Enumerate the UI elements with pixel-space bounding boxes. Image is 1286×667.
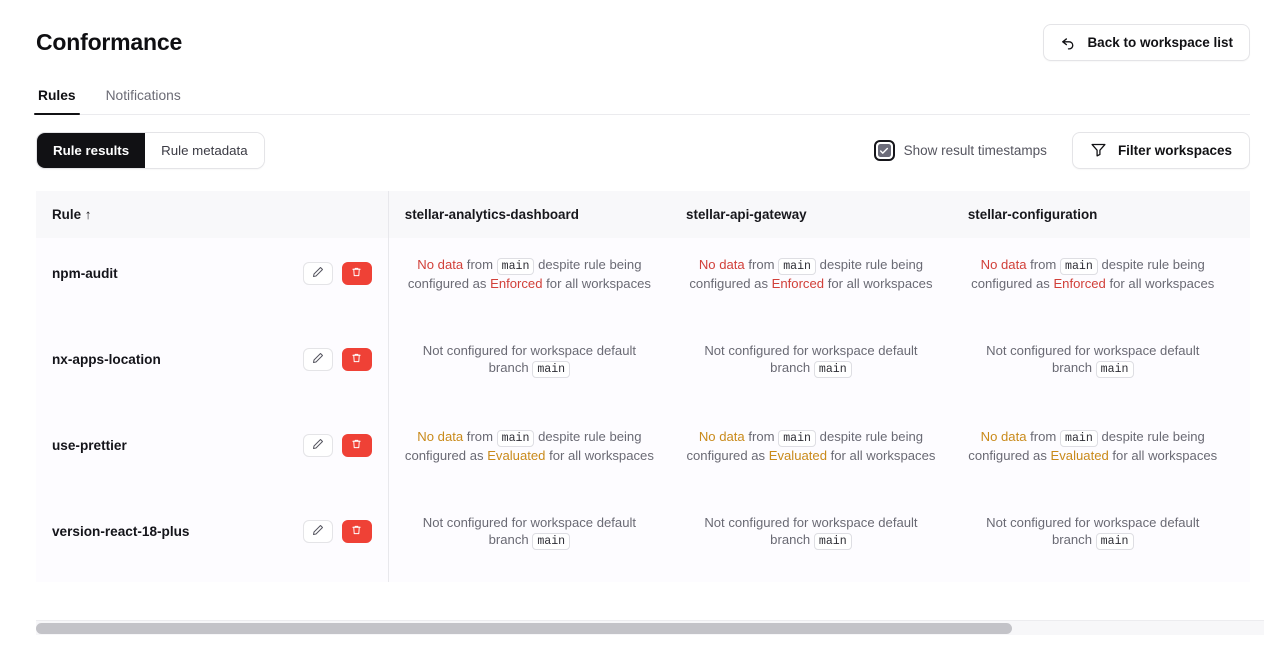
result-cell: No data from main despite rule being con… — [388, 410, 670, 496]
rule-status-label: Evaluated — [769, 448, 827, 463]
cell-message: No data from main despite rule being con… — [968, 256, 1218, 292]
no-data-label: No data — [981, 257, 1027, 272]
checkbox-focus-ring — [874, 140, 895, 161]
toolbar: Rule results Rule metadata Show result t… — [0, 115, 1286, 169]
cell-message: No data from main despite rule being con… — [405, 428, 654, 464]
sort-ascending-icon: ↑ — [85, 207, 92, 222]
rule-name: npm-audit — [52, 265, 118, 282]
checkbox-checked-icon — [878, 144, 891, 157]
delete-rule-button[interactable] — [342, 348, 372, 371]
page-header: Conformance Back to workspace list — [0, 0, 1286, 62]
cell-message: No data from main despite rule being con… — [686, 428, 936, 464]
table-row: nx-apps-locationNot configured for works… — [36, 324, 1250, 410]
rule-status-label: Enforced — [772, 276, 824, 291]
branch-badge: main — [497, 258, 535, 275]
edit-rule-button[interactable] — [303, 348, 333, 371]
trash-icon — [351, 524, 362, 539]
trash-icon — [351, 438, 362, 453]
result-cell: No data from main despite rule being con… — [1234, 238, 1250, 324]
trash-icon — [351, 266, 362, 281]
table-row: npm-auditNo data from main despite rule … — [36, 238, 1250, 324]
result-cell: No data from main despite rule being con… — [670, 238, 952, 324]
result-cell: No data from main despite rule being con… — [388, 238, 670, 324]
undo-arrow-icon — [1060, 34, 1077, 51]
tab-notifications[interactable]: Notifications — [104, 88, 183, 114]
column-header-workspace-3[interactable]: stellar-configuration — [952, 191, 1234, 238]
horizontal-scrollbar-track[interactable] — [36, 621, 1264, 635]
filter-workspaces-label: Filter workspaces — [1118, 143, 1232, 158]
conformance-page: Conformance Back to workspace list Rules… — [0, 0, 1286, 667]
branch-badge: main — [1060, 258, 1098, 275]
no-data-label: No data — [981, 429, 1027, 444]
edit-rule-button[interactable] — [303, 434, 333, 457]
rule-status-label: Evaluated — [487, 448, 545, 463]
segment-rule-results[interactable]: Rule results — [37, 133, 145, 168]
rule-cell-inner: nx-apps-location — [52, 348, 372, 371]
conformance-table-scroll-region[interactable]: Rule ↑ stellar-analytics-dashboard stell… — [36, 191, 1250, 583]
column-header-workspace-2[interactable]: stellar-api-gateway — [670, 191, 952, 238]
rule-status-label: Evaluated — [1051, 448, 1109, 463]
rule-actions — [303, 262, 372, 285]
cell-message: Not configured for workspace default bra… — [686, 342, 936, 378]
column-header-rule[interactable]: Rule ↑ — [36, 191, 388, 238]
view-segmented-control: Rule results Rule metadata — [36, 132, 265, 169]
rule-status-label: Enforced — [1053, 276, 1105, 291]
column-header-workspace-4[interactable]: stellar-design-system — [1234, 191, 1250, 238]
result-cell: No data from main despite rule being con… — [952, 238, 1234, 324]
tabs: Rules Notifications — [36, 88, 1250, 115]
rule-cell: npm-audit — [36, 238, 388, 324]
table-body: npm-auditNo data from main despite rule … — [36, 238, 1250, 582]
branch-badge: main — [497, 430, 535, 447]
pencil-icon — [312, 524, 324, 539]
segment-rule-metadata[interactable]: Rule metadata — [145, 133, 263, 168]
edit-rule-button[interactable] — [303, 262, 333, 285]
back-to-workspace-list-button[interactable]: Back to workspace list — [1043, 24, 1250, 61]
cell-message: No data from main despite rule being con… — [686, 256, 936, 292]
result-cell: Not configured for workspace default bra… — [1234, 324, 1250, 410]
no-data-label: No data — [417, 257, 463, 272]
delete-rule-button[interactable] — [342, 262, 372, 285]
result-cell: No data from main despite rule being con… — [1234, 410, 1250, 496]
pencil-icon — [312, 266, 324, 281]
cell-message: Not configured for workspace default bra… — [686, 514, 936, 550]
no-data-label: No data — [417, 429, 463, 444]
no-data-label: No data — [699, 429, 745, 444]
table-head: Rule ↑ stellar-analytics-dashboard stell… — [36, 191, 1250, 238]
branch-badge: main — [814, 533, 852, 550]
rule-cell-inner: version-react-18-plus — [52, 520, 372, 543]
delete-rule-button[interactable] — [342, 520, 372, 543]
result-cell: Not configured for workspace default bra… — [1234, 496, 1250, 582]
cell-message: Not configured for workspace default bra… — [405, 514, 654, 550]
branch-badge: main — [778, 258, 816, 275]
rule-actions — [303, 520, 372, 543]
cell-message: No data from main despite rule being con… — [405, 256, 654, 292]
result-cell: Not configured for workspace default bra… — [388, 324, 670, 410]
result-cell: Not configured for workspace default bra… — [952, 324, 1234, 410]
toolbar-right: Show result timestamps Filter workspaces — [874, 132, 1250, 169]
edit-rule-button[interactable] — [303, 520, 333, 543]
rule-name: nx-apps-location — [52, 351, 161, 368]
table-row: version-react-18-plusNot configured for … — [36, 496, 1250, 582]
trash-icon — [351, 352, 362, 367]
result-cell: No data from main despite rule being con… — [952, 410, 1234, 496]
branch-badge: main — [814, 361, 852, 378]
rule-actions — [303, 434, 372, 457]
rule-cell: version-react-18-plus — [36, 496, 388, 582]
filter-workspaces-button[interactable]: Filter workspaces — [1072, 132, 1250, 169]
result-cell: Not configured for workspace default bra… — [670, 496, 952, 582]
rule-name: use-prettier — [52, 437, 127, 454]
branch-badge: main — [532, 361, 570, 378]
no-data-label: No data — [699, 257, 745, 272]
delete-rule-button[interactable] — [342, 434, 372, 457]
cell-message: Not configured for workspace default bra… — [968, 514, 1218, 550]
result-cell: Not configured for workspace default bra… — [670, 324, 952, 410]
funnel-icon — [1090, 141, 1107, 161]
branch-badge: main — [778, 430, 816, 447]
rule-cell-inner: npm-audit — [52, 262, 372, 285]
tab-rules[interactable]: Rules — [36, 88, 78, 114]
rule-status-label: Enforced — [490, 276, 542, 291]
result-cell: No data from main despite rule being con… — [670, 410, 952, 496]
rule-cell-inner: use-prettier — [52, 434, 372, 457]
branch-badge: main — [1096, 533, 1134, 550]
pencil-icon — [312, 352, 324, 367]
rule-cell: use-prettier — [36, 410, 388, 496]
show-result-timestamps-label: Show result timestamps — [904, 143, 1047, 158]
table-header-row: Rule ↑ stellar-analytics-dashboard stell… — [36, 191, 1250, 238]
cell-message: No data from main despite rule being con… — [968, 428, 1218, 464]
branch-badge: main — [1060, 430, 1098, 447]
page-title: Conformance — [36, 29, 182, 56]
pencil-icon — [312, 438, 324, 453]
cell-message: Not configured for workspace default bra… — [968, 342, 1218, 378]
rule-actions — [303, 348, 372, 371]
column-header-rule-label: Rule — [52, 207, 81, 222]
back-button-label: Back to workspace list — [1087, 35, 1233, 50]
rule-cell: nx-apps-location — [36, 324, 388, 410]
conformance-table: Rule ↑ stellar-analytics-dashboard stell… — [36, 191, 1250, 582]
horizontal-scrollbar-thumb[interactable] — [36, 623, 1012, 634]
result-cell: Not configured for workspace default bra… — [952, 496, 1234, 582]
show-result-timestamps-checkbox[interactable]: Show result timestamps — [874, 140, 1047, 161]
rule-name: version-react-18-plus — [52, 523, 190, 540]
result-cell: Not configured for workspace default bra… — [388, 496, 670, 582]
branch-badge: main — [532, 533, 570, 550]
column-header-workspace-1[interactable]: stellar-analytics-dashboard — [388, 191, 670, 238]
table-row: use-prettierNo data from main despite ru… — [36, 410, 1250, 496]
branch-badge: main — [1096, 361, 1134, 378]
cell-message: Not configured for workspace default bra… — [405, 342, 654, 378]
tabs-container: Rules Notifications — [0, 88, 1286, 115]
